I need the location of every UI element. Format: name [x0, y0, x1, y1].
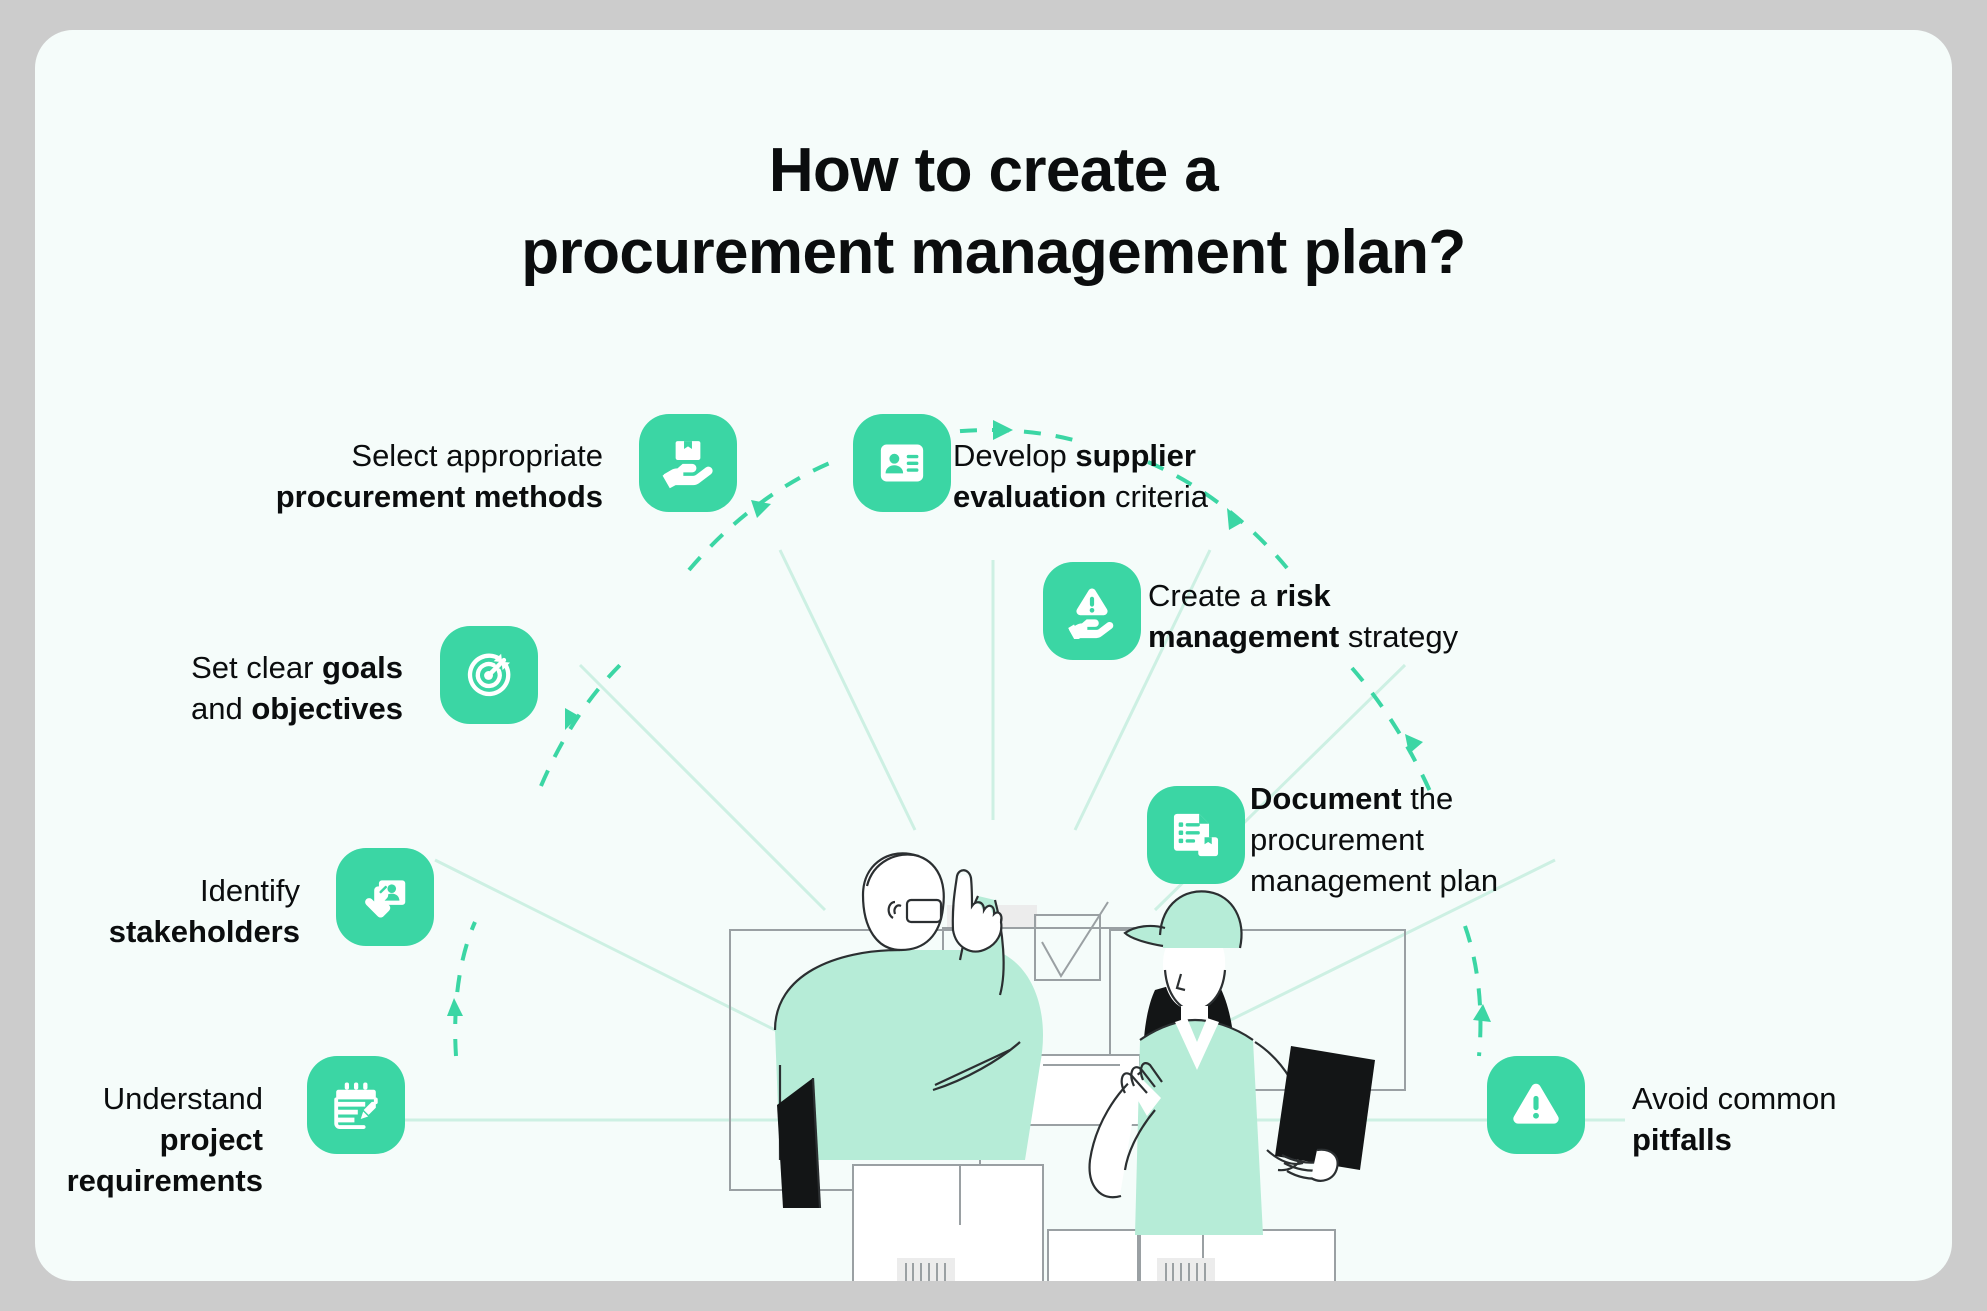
label-text-bold: pitfalls: [1632, 1122, 1732, 1157]
label-text-bold: supplier: [1075, 438, 1196, 473]
infographic-card: How to create a procurement management p…: [35, 30, 1952, 1281]
label-text-bold: procurement methods: [276, 479, 603, 514]
notepad-pencil-icon: [329, 1078, 383, 1132]
warning-triangle-icon: [1508, 1077, 1564, 1133]
step-label-understand-project-requirements: Understand project requirements: [35, 1078, 263, 1201]
label-text: management plan: [1250, 863, 1498, 898]
label-text-bold: risk: [1276, 578, 1331, 613]
step-icon-understand-project-requirements[interactable]: [307, 1056, 405, 1154]
label-text: Develop: [953, 438, 1075, 473]
step-label-create-a-risk-management-strategy: Create a risk management strategy: [1148, 575, 1458, 657]
label-text: criteria: [1106, 479, 1208, 514]
label-text-bold: evaluation: [953, 479, 1106, 514]
document-checklist-box-icon: [1169, 808, 1223, 862]
label-text: the: [1402, 781, 1454, 816]
label-text: Create a: [1148, 578, 1276, 613]
step-label-develop-supplier-evaluation-criteria: Develop supplier evaluation criteria: [953, 435, 1208, 517]
label-text: procurement: [1250, 822, 1424, 857]
label-text-bold: Document: [1250, 781, 1402, 816]
step-icon-document-the-procurement-management-plan[interactable]: [1147, 786, 1245, 884]
two-people-with-boxes-illustration: [730, 853, 1405, 1281]
step-icon-create-a-risk-management-strategy[interactable]: [1043, 562, 1141, 660]
label-text: Select appropriate: [351, 438, 603, 473]
step-label-select-appropriate-procurement-methods: Select appropriate procurement methods: [35, 435, 603, 517]
label-text: Understand: [103, 1081, 263, 1116]
label-text-bold: goals: [322, 650, 403, 685]
step-icon-identify-stakeholders[interactable]: [336, 848, 434, 946]
step-icon-develop-supplier-evaluation-criteria[interactable]: [853, 414, 951, 512]
label-text: strategy: [1339, 619, 1458, 654]
label-text-bold: project: [160, 1122, 263, 1157]
hand-holding-box-icon: [660, 435, 716, 491]
label-text: and: [191, 691, 251, 726]
step-label-set-clear-goals-and-objectives: Set clear goals and objectives: [35, 647, 403, 729]
label-text-bold: management: [1148, 619, 1339, 654]
label-text-bold: objectives: [251, 691, 403, 726]
label-text: Identify: [200, 873, 300, 908]
step-icon-set-clear-goals-and-objectives[interactable]: [440, 626, 538, 724]
label-text-bold: stakeholders: [109, 914, 300, 949]
step-icon-avoid-common-pitfalls[interactable]: [1487, 1056, 1585, 1154]
hand-holding-warning-icon: [1064, 583, 1120, 639]
target-arrow-icon: [461, 647, 517, 703]
hand-pointing-person-card-icon: [358, 870, 412, 924]
step-label-avoid-common-pitfalls: Avoid common pitfalls: [1632, 1078, 1836, 1160]
step-label-document-the-procurement-management-plan: Document the procurement management plan: [1250, 778, 1498, 901]
step-icon-select-appropriate-procurement-methods[interactable]: [639, 414, 737, 512]
label-text: Set clear: [191, 650, 322, 685]
id-card-icon: [875, 436, 929, 490]
label-text-bold: requirements: [67, 1163, 263, 1198]
label-text: Avoid common: [1632, 1081, 1836, 1116]
step-label-identify-stakeholders: Identify stakeholders: [35, 870, 300, 952]
